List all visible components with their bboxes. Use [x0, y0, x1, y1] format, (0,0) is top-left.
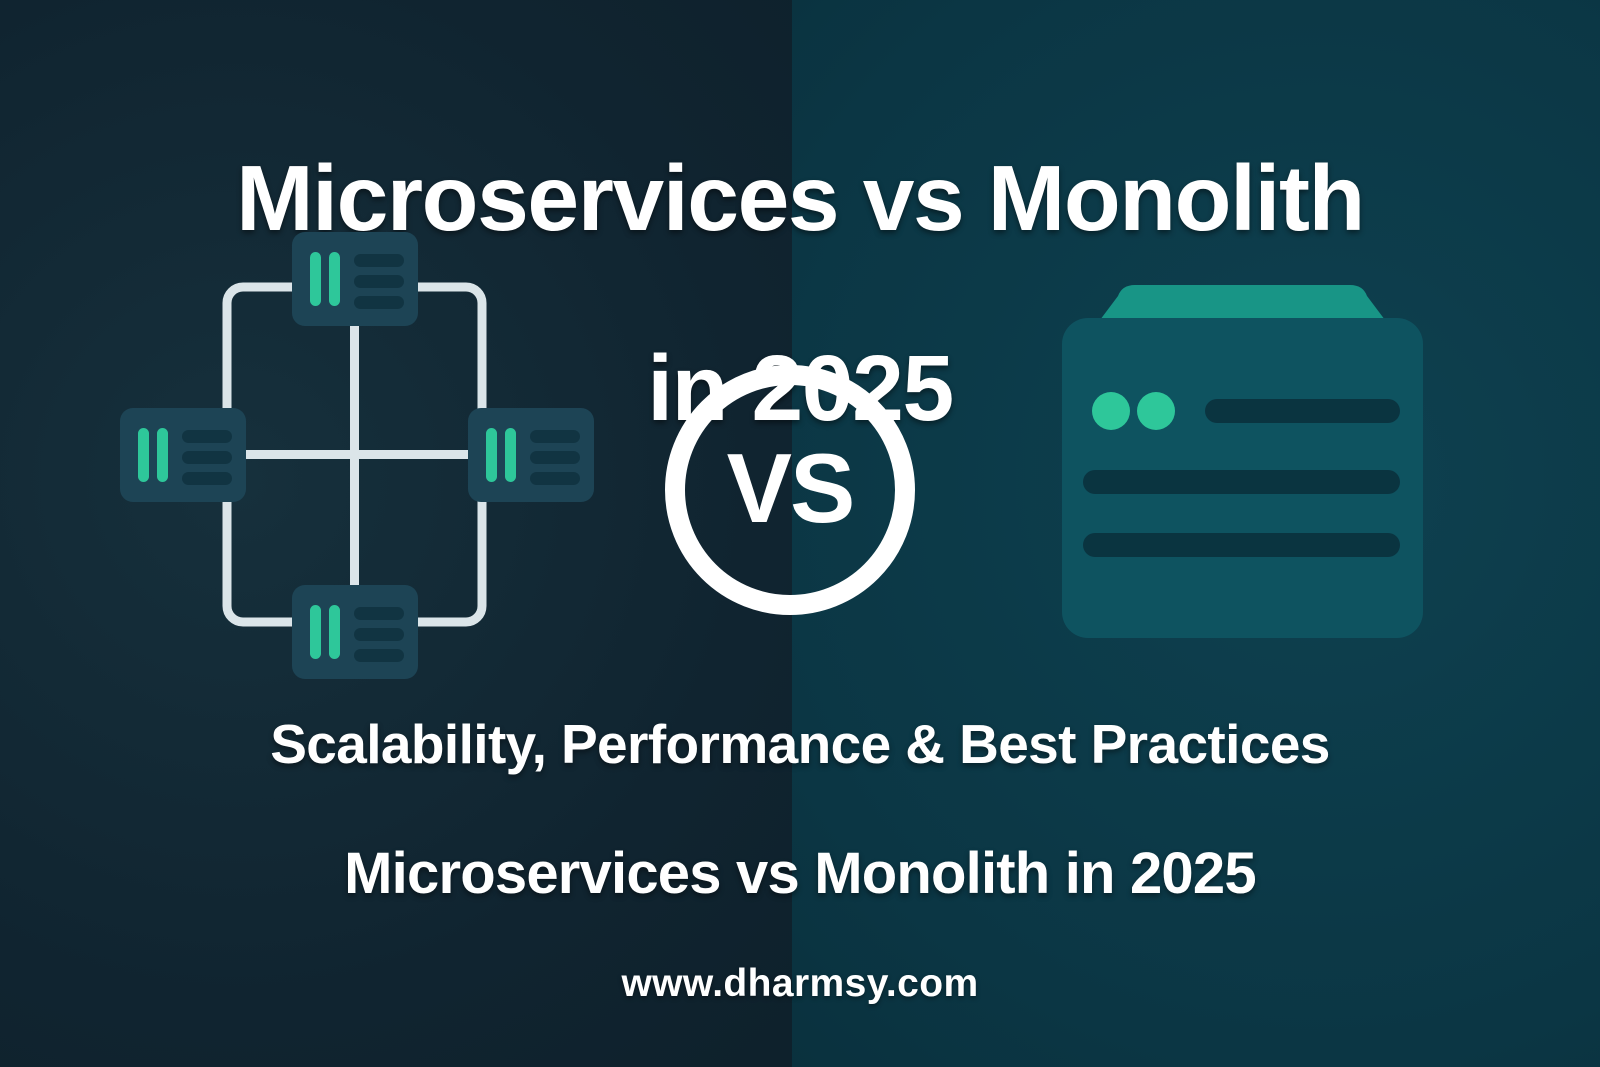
poster-canvas: Microservices vs Monolith in 2025 [0, 0, 1600, 1067]
vs-badge: VS [665, 365, 915, 615]
service-node-right [468, 408, 594, 502]
monolith-line-1 [1205, 399, 1400, 423]
vs-label: VS [665, 365, 915, 615]
monolith-dot-1 [1092, 392, 1130, 430]
service-node-top [292, 232, 418, 326]
monolith-dot-2 [1137, 392, 1175, 430]
subtitle: Scalability, Performance & Best Practice… [0, 712, 1600, 776]
microservices-network-icon [100, 215, 620, 695]
service-node-bottom [292, 585, 418, 679]
monolith-block-icon [1045, 272, 1440, 650]
monolith-top-face [1100, 285, 1385, 320]
monolith-line-3 [1083, 533, 1400, 557]
monolith-line-2 [1083, 470, 1400, 494]
website-url: www.dharmsy.com [0, 962, 1600, 1006]
service-node-left [120, 408, 246, 502]
tagline: Microservices vs Monolith in 2025 [0, 840, 1600, 907]
